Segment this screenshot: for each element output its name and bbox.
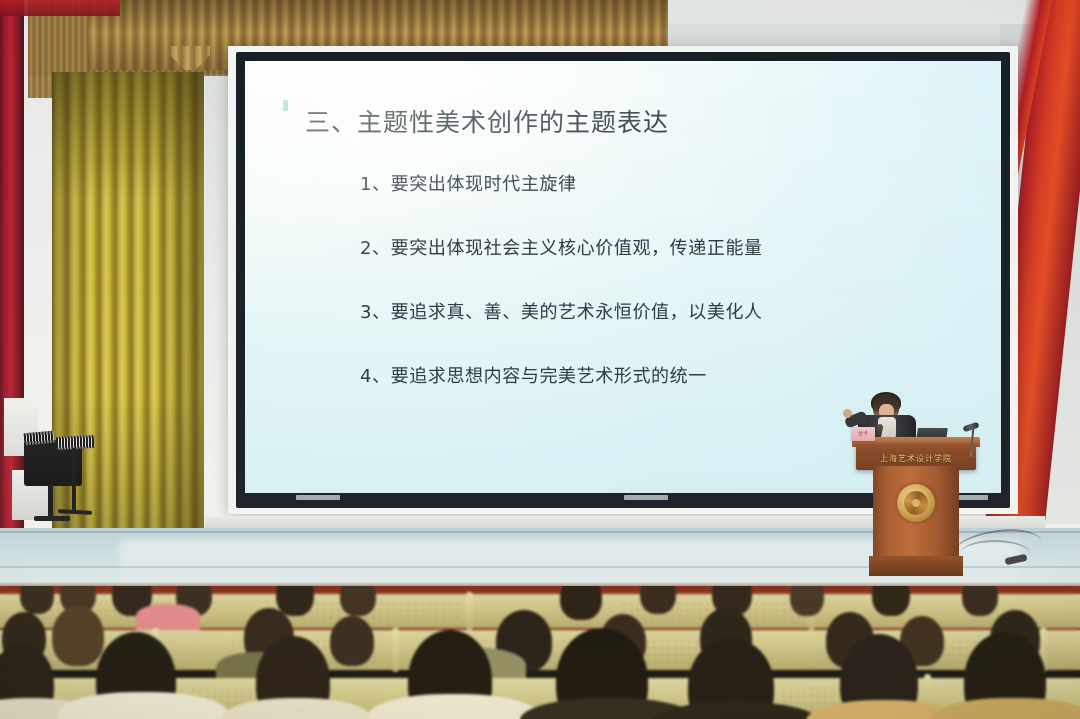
podium-emblem-center-icon xyxy=(912,499,920,507)
red-curtain-left-top xyxy=(0,0,120,16)
screen-bezel-label-left xyxy=(296,495,340,500)
seat-divider xyxy=(466,592,473,630)
piano-base xyxy=(34,516,70,521)
slide-bullet-item-1: 1、要突出体现时代主旋律 xyxy=(360,170,1000,196)
slide-bullet-item-3: 3、要追求真、善、美的艺术永恒价值，以美化人 xyxy=(360,298,1000,324)
audience-head xyxy=(20,586,54,614)
audience-shoulders xyxy=(136,604,200,630)
audience-head xyxy=(52,606,104,666)
podium-institution-label: 上海艺术设计学院 xyxy=(858,449,974,467)
piano-leg xyxy=(48,484,53,518)
audience-head xyxy=(790,586,824,616)
audience-head xyxy=(872,586,910,616)
podium-base xyxy=(869,556,963,576)
red-curtain-left xyxy=(0,0,24,540)
podium-name-card-text: 台卡 xyxy=(853,430,873,437)
auditorium-lecture-photo: 三、主题性美术创作的主题表达 1、要突出体现时代主旋律 2、要突出体现社会主义核… xyxy=(0,0,1080,719)
seat-back-perforation xyxy=(300,600,460,624)
slide-bullet-item-2: 2、要突出体现社会主义核心价值观，传递正能量 xyxy=(360,234,1000,260)
speaker-hand xyxy=(843,409,852,418)
audience-area xyxy=(0,586,1080,719)
audience-head xyxy=(640,586,676,614)
audience-head xyxy=(962,586,998,616)
screen-bezel-label-center xyxy=(624,495,668,500)
slide-green-marker-icon xyxy=(283,100,288,111)
music-stand-pole xyxy=(72,448,76,512)
audience-head xyxy=(340,586,376,616)
audience-head xyxy=(560,586,602,620)
slide-bullet-item-4: 4、要追求思想内容与完美艺术形式的统一 xyxy=(360,362,1000,388)
seat-divider xyxy=(392,628,399,672)
slide-bullet-list: 1、要突出体现时代主旋律 2、要突出体现社会主义核心价值观，传递正能量 3、要追… xyxy=(360,170,1000,426)
audience-head xyxy=(330,616,374,666)
slide-title: 三、主题性美术创作的主题表达 xyxy=(305,103,669,139)
